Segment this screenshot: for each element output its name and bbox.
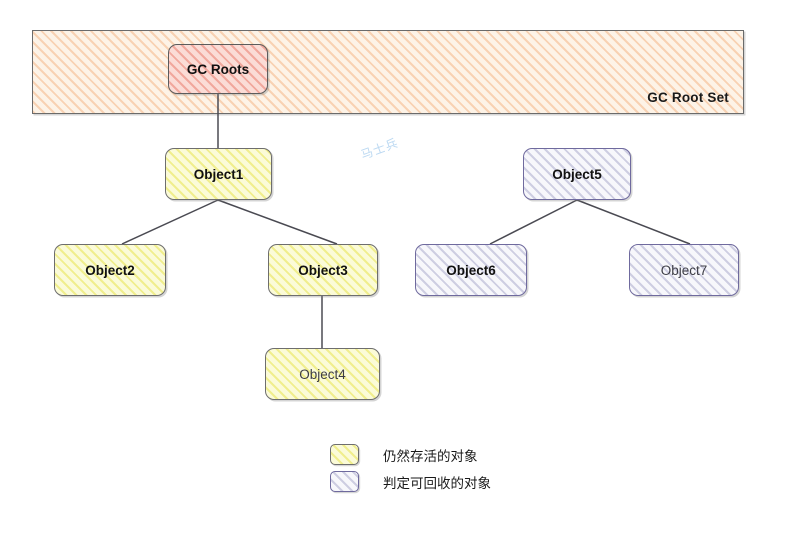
node-label: Object6	[446, 263, 496, 278]
node-label: Object5	[552, 167, 602, 182]
node-label: Object1	[194, 167, 244, 182]
edge-object1-to-object2	[122, 200, 218, 244]
legend-label-alive: 仍然存活的对象	[383, 445, 478, 465]
diagram-canvas: GC Root Set 马士兵 GC RootsObject1Object2Ob…	[0, 0, 792, 533]
gc-root-set-label: GC Root Set	[647, 90, 729, 105]
node-label: Object2	[85, 263, 135, 278]
node-object4: Object4	[265, 348, 380, 400]
edge-object5-to-object7	[577, 200, 690, 244]
edge-object1-to-object3	[218, 200, 337, 244]
node-label: GC Roots	[187, 62, 249, 77]
node-object5: Object5	[523, 148, 631, 200]
legend-swatch-alive-icon	[330, 444, 359, 465]
node-object6: Object6	[415, 244, 527, 296]
node-object7: Object7	[629, 244, 739, 296]
legend-item-alive: 仍然存活的对象	[330, 441, 491, 468]
node-object2: Object2	[54, 244, 166, 296]
legend-swatch-collectible-icon	[330, 471, 359, 492]
node-object3: Object3	[268, 244, 378, 296]
node-label: Object7	[661, 263, 708, 278]
legend-item-collectible: 判定可回收的对象	[330, 468, 491, 495]
node-object1: Object1	[165, 148, 272, 200]
legend: 仍然存活的对象 判定可回收的对象	[330, 441, 491, 495]
edge-object5-to-object6	[490, 200, 577, 244]
watermark: 马士兵	[358, 134, 400, 163]
legend-label-collectible: 判定可回收的对象	[383, 472, 491, 492]
gc-root-set-container: GC Root Set	[32, 30, 744, 114]
node-gc-roots: GC Roots	[168, 44, 268, 94]
node-label: Object3	[298, 263, 348, 278]
node-label: Object4	[299, 367, 346, 382]
